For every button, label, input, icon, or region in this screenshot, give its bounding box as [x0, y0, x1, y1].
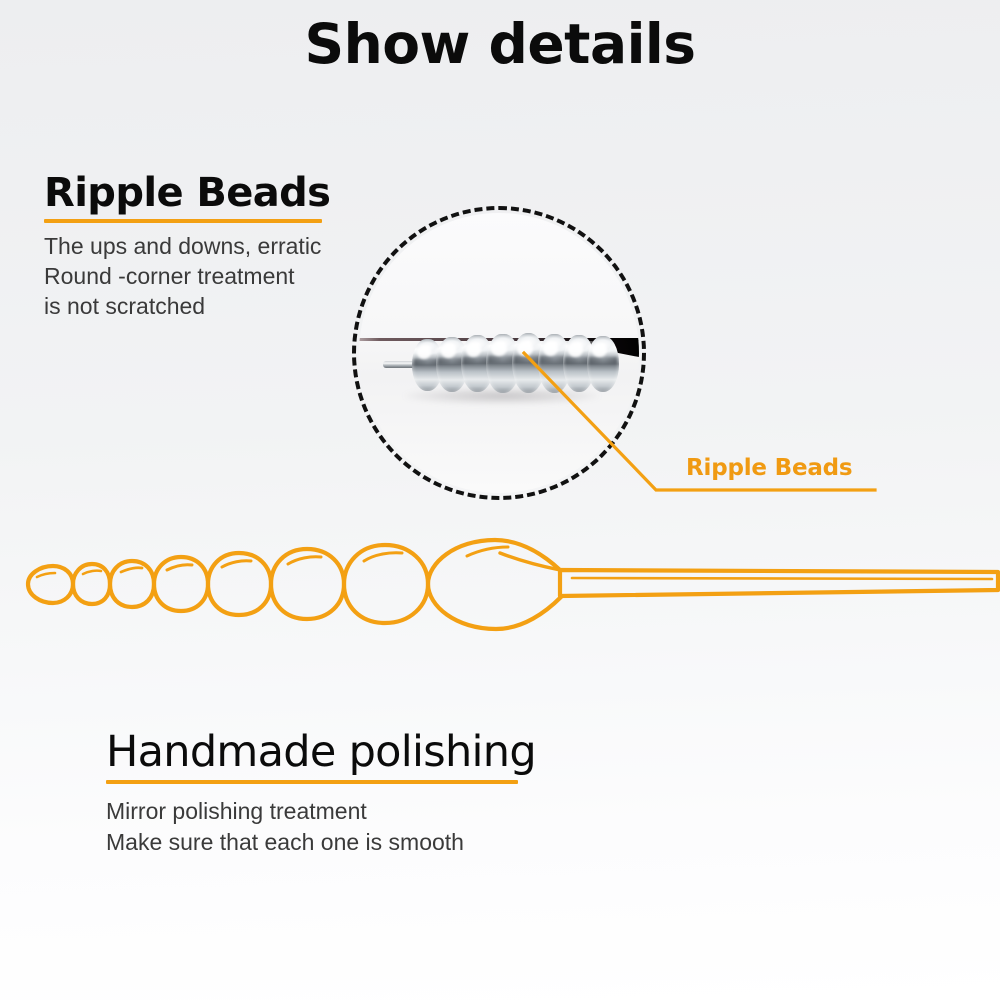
- handmade-heading: Handmade polishing: [106, 730, 536, 775]
- handmade-body: Mirror polishing treatment Make sure tha…: [106, 796, 536, 857]
- drawing-shaft: [560, 570, 998, 596]
- drawing-bead: [110, 561, 154, 607]
- section-ripple-beads: Ripple Beads The ups and downs, erratic …: [44, 172, 330, 322]
- drawing-bead: [73, 564, 110, 604]
- product-photo-circle: [352, 206, 646, 500]
- drawing-bead: [208, 553, 271, 615]
- page-title: Show details: [0, 14, 1000, 75]
- drawing-bulb-highlight: [467, 547, 508, 556]
- drawing-bulb: [428, 540, 561, 629]
- ripple-heading-underline: [44, 219, 322, 223]
- drawing-shaft-highlight: [572, 578, 992, 579]
- drawing-bead-highlight: [288, 557, 321, 564]
- drawing-bead: [154, 557, 208, 611]
- drawing-tip-highlight: [37, 573, 55, 577]
- callout-label-ripple-beads: Ripple Beads: [686, 455, 852, 481]
- drawing-bead-highlight: [121, 568, 142, 572]
- drawing-bead: [271, 549, 344, 619]
- section-handmade-polishing: Handmade polishing Mirror polishing trea…: [106, 730, 536, 857]
- ripple-body: The ups and downs, erratic Round -corner…: [44, 232, 330, 322]
- ripple-body-line-1: The ups and downs, erratic: [44, 232, 330, 262]
- infographic-canvas: Show details Ripple Beads The ups and do…: [0, 0, 1000, 1000]
- drawing-bead-highlight: [83, 571, 101, 574]
- drawing-bulb-taper: [500, 553, 560, 570]
- drawing-bead-tip: [28, 566, 73, 603]
- drawing-bead-highlight: [222, 561, 251, 567]
- handmade-body-line-2: Make sure that each one is smooth: [106, 827, 536, 858]
- handmade-body-line-1: Mirror polishing treatment: [106, 796, 536, 827]
- ripple-body-line-2: Round -corner treatment: [44, 262, 330, 292]
- drawing-bead-highlight: [167, 565, 192, 570]
- ripple-heading: Ripple Beads: [44, 172, 330, 214]
- drawing-bead: [344, 545, 428, 623]
- drawing-bead-highlight: [364, 553, 402, 561]
- ripple-body-line-3: is not scratched: [44, 292, 330, 322]
- dashed-circle-border: [352, 206, 646, 500]
- handmade-heading-underline: [106, 780, 518, 784]
